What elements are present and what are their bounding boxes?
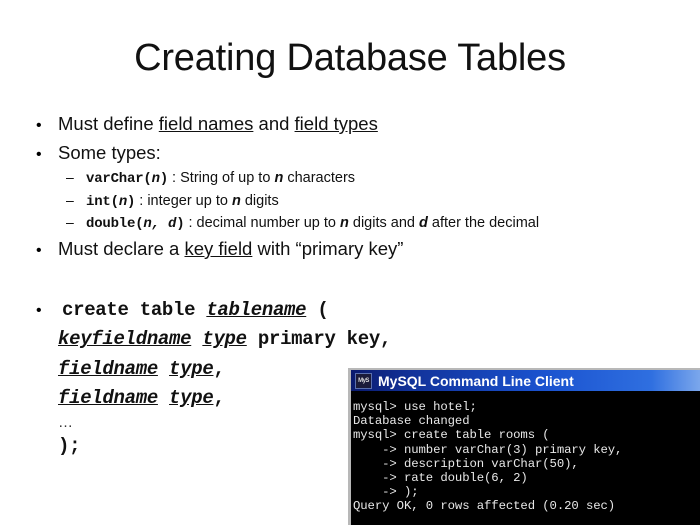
double-desc-pre: decimal number up to [197,215,340,231]
dash-marker-icon: – [66,214,86,230]
sql-space [158,358,169,380]
bullet-marker-icon: • [36,118,58,134]
sql-var-type-3: type [169,387,213,409]
sub-bullet-double: – double(n, d) : decimal number up to n … [36,214,696,233]
varchar-desc-post: characters [283,170,355,186]
sub-bullet-int: – int(n) : integer up to n digits [36,192,696,211]
terminal-line: -> description varChar(50), [353,457,700,471]
varchar-code: varChar( [86,171,152,187]
bullet1-link-field-names: field names [159,113,254,134]
terminal-line: mysql> create table rooms ( [353,428,700,442]
double-code-var: n, d [143,216,176,232]
int-code: int( [86,194,119,210]
sql-var-fieldname-2: fieldname [58,387,158,409]
bullet-marker-icon: • [36,147,58,163]
varchar-code-var: n [152,171,160,187]
varchar-separator: : [168,170,180,186]
terminal-line: -> ); [353,485,700,499]
mysql-app-icon: MyS [355,373,372,389]
page-title: Creating Database Tables [0,38,700,80]
sub-bullet-int-text: int(n) : integer up to n digits [86,192,279,211]
bullet-marker-icon: • [36,243,58,259]
sub-bullet-varchar: – varChar(n) : String of up to n charact… [36,169,696,188]
sql-keyword-primary-key: primary key, [247,328,391,350]
double-code: double( [86,216,143,232]
int-desc-pre: integer up to [147,193,232,209]
dash-marker-icon: – [66,192,86,208]
bullet-item-some-types: • Some types: [36,141,696,165]
int-code-end: ) [127,194,135,210]
terminal-line: Database changed [353,414,700,428]
double-separator: : [184,215,196,231]
terminal-line: Query OK, 0 rows affected (0.20 sec) [353,499,700,513]
bullet-text-field-names: Must define field names and field types [58,112,378,136]
sql-space [191,328,202,350]
sql-space [158,387,169,409]
bullet-item-field-names: • Must define field names and field type… [36,112,696,136]
sql-var-type-2: type [169,358,213,380]
sql-var-fieldname-1: fieldname [58,358,158,380]
sql-first-row: • create table tablename ( [36,296,556,325]
double-desc-var2: d [419,215,428,231]
int-separator: : [135,193,147,209]
terminal-titlebar[interactable]: MyS MySQL Command Line Client [351,370,700,391]
int-desc-var: n [232,193,241,209]
double-desc-mid: digits and [349,215,419,231]
sql-comma-2: , [213,387,224,409]
double-desc-var: n [340,215,349,231]
int-code-var: n [119,194,127,210]
bullet1-mid-text: and [253,113,294,134]
sql-var-tablename: tablename [206,299,306,321]
sql-line-keyfieldname: keyfieldname type primary key, [36,325,556,354]
bullet3-link-key-field: key field [184,238,252,259]
bullet-item-key-field: • Must declare a key field with “primary… [36,237,696,261]
int-desc-post: digits [241,193,279,209]
varchar-desc-var: n [274,170,283,186]
double-desc-post: after the decimal [428,215,539,231]
bullet-text-key-field: Must declare a key field with “primary k… [58,237,403,261]
bullet-text-some-types: Some types: [58,141,161,165]
sql-keyword-create-table: create table [62,299,206,321]
sql-line-create-table: create table tablename ( [58,296,328,325]
mysql-terminal-window[interactable]: MyS MySQL Command Line Client mysql> use… [348,368,700,525]
bullet1-pre-text: Must define [58,113,159,134]
bullet1-link-field-types: field types [295,113,378,134]
bullet-marker-icon: • [36,303,58,319]
varchar-code-end: ) [160,171,168,187]
sql-comma-1: , [213,358,224,380]
terminal-line: -> rate double(6, 2) [353,471,700,485]
bullet-list: • Must define field names and field type… [36,112,696,266]
sub-bullet-double-text: double(n, d) : decimal number up to n di… [86,214,539,233]
terminal-output-area[interactable]: mysql> use hotel; Database changed mysql… [351,391,700,525]
sql-var-keyfieldname: keyfieldname [58,328,191,350]
sql-var-type-1: type [202,328,246,350]
dash-marker-icon: – [66,169,86,185]
bullet3-post-text: with “primary key” [252,238,403,259]
bullet3-pre-text: Must declare a [58,238,184,259]
terminal-line: mysql> use hotel; [353,400,700,414]
varchar-desc-pre: String of up to [180,170,274,186]
terminal-window-title: MySQL Command Line Client [378,373,574,389]
sql-open-paren: ( [306,299,328,321]
sub-bullet-varchar-text: varChar(n) : String of up to n character… [86,169,355,188]
terminal-line: -> number varChar(3) primary key, [353,443,700,457]
sub-bullet-list: – varChar(n) : String of up to n charact… [36,169,696,233]
